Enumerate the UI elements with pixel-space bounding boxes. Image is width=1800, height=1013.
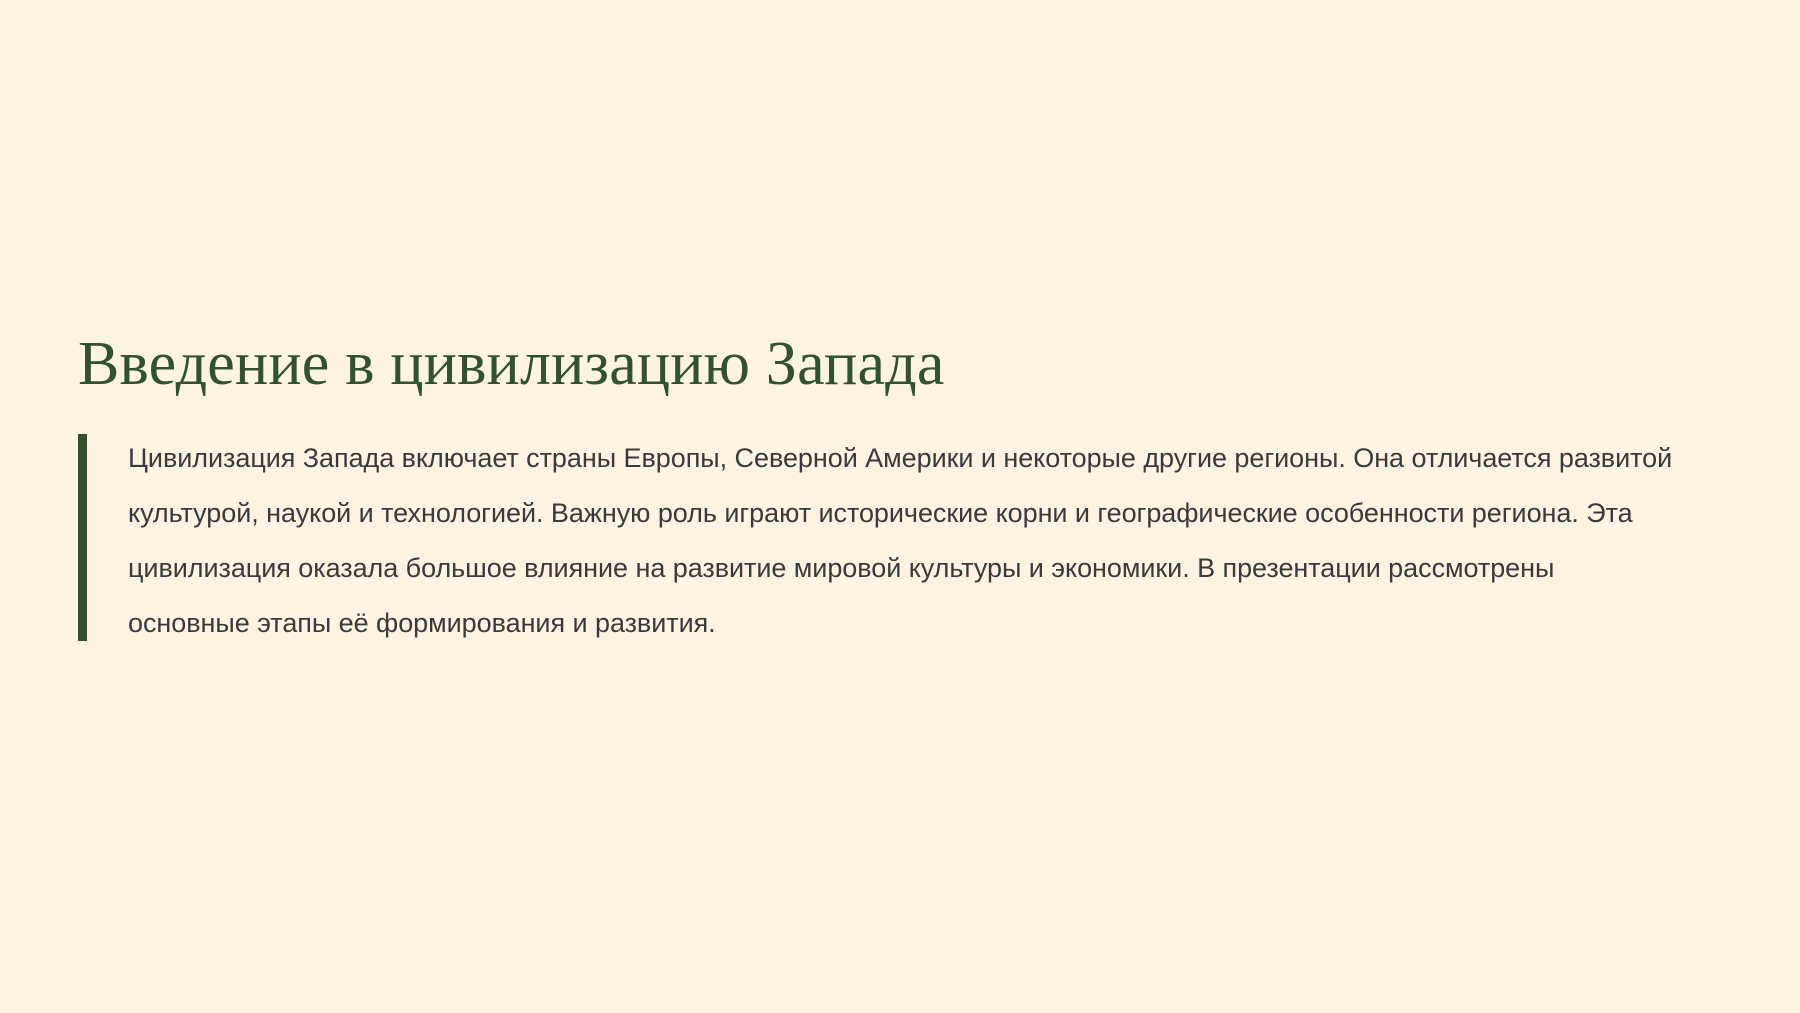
presentation-slide: Введение в цивилизацию Запада Цивилизаци… <box>0 0 1800 1013</box>
page-title: Введение в цивилизацию Запада <box>78 330 1698 399</box>
body-text-block: Цивилизация Запада включает страны Европ… <box>78 431 1698 651</box>
slide-content-area: Введение в цивилизацию Запада Цивилизаци… <box>78 330 1698 651</box>
body-paragraph: Цивилизация Запада включает страны Европ… <box>128 431 1673 651</box>
accent-bar <box>78 434 87 641</box>
